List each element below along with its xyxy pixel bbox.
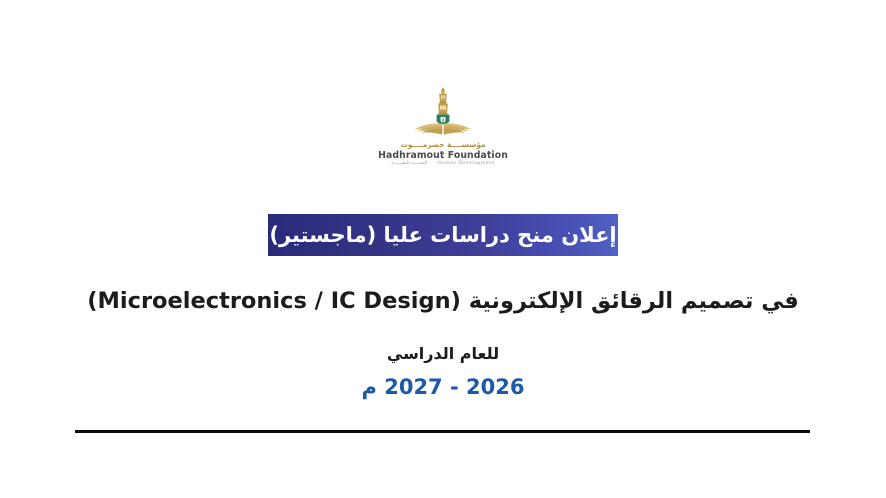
logo-arabic-name: مؤسســــة حضرمــــوت [400,141,485,148]
logo-tagline-en: Human Development [437,162,494,167]
logo-english-name: Hadhramout Foundation [378,151,508,160]
foundation-logo-block: مؤسســــة حضرمــــوت Hadhramout Foundati… [0,86,886,167]
hadhramout-foundation-logo-icon [406,86,480,138]
section-divider [75,430,810,433]
announcement-banner-text: إعلان منح دراسات عليا (ماجستير) [269,225,616,246]
logo-tagline-ar: للتنميـــة البشريـــة [391,162,427,167]
announcement-banner: إعلان منح دراسات عليا (ماجستير) [268,214,618,256]
logo-tagline: Human Development للتنميـــة البشريـــة [391,162,495,167]
academic-year-label: للعام الدراسي [0,344,886,363]
academic-year-value: 2026 - 2027 م [0,375,886,400]
announcement-page: مؤسســــة حضرمــــوت Hadhramout Foundati… [0,0,886,498]
program-headline: في تصميم الرقائق الإلكترونية (Microelect… [0,287,886,316]
